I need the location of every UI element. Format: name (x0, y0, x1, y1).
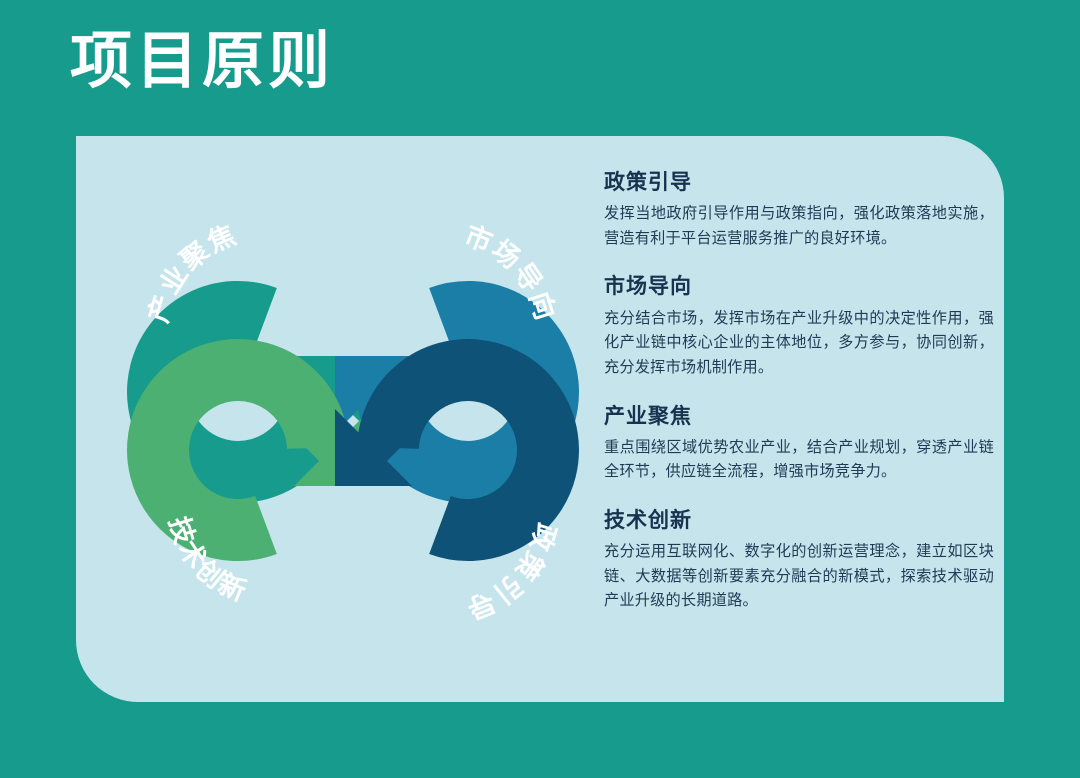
principle-title: 技术创新 (604, 508, 994, 533)
principle-body: 发挥当地政府引导作用与政策指向，强化政策落地实施，营造有利于平台运营服务推广的良… (604, 202, 994, 251)
principles-list: 政策引导 发挥当地政府引导作用与政策指向，强化政策落地实施，营造有利于平台运营服… (604, 170, 994, 614)
principle-title: 产业聚焦 (604, 404, 994, 429)
principle-item-policy-guidance: 政策引导 发挥当地政府引导作用与政策指向，强化政策落地实施，营造有利于平台运营服… (604, 170, 994, 251)
principle-item-industry-focus: 产业聚焦 重点围绕区域优势农业产业，结合产业规划，穿透产业链全环节，供应链全流程… (604, 404, 994, 485)
principle-body: 充分运用互联网化、数字化的创新运营理念，建立如区块链、大数据等创新要素充分融合的… (604, 540, 994, 614)
principle-body: 重点围绕区域优势农业产业，结合产业规划，穿透产业链全环节，供应链全流程，增强市场… (604, 436, 994, 485)
principle-title: 市场导向 (604, 274, 994, 299)
principle-body: 充分结合市场，发挥市场在产业升级中的决定性作用，强化产业链中核心企业的主体地位，… (604, 307, 994, 381)
principle-title: 政策引导 (604, 170, 994, 195)
page-title: 项目原则 (70, 28, 334, 96)
principle-item-market-oriented: 市场导向 充分结合市场，发挥市场在产业升级中的决定性作用，强化产业链中核心企业的… (604, 274, 994, 380)
principle-item-technology-innovation: 技术创新 充分运用互联网化、数字化的创新运营理念，建立如区块链、大数据等创新要素… (604, 508, 994, 614)
circular-arrow-diagram: 产业聚焦 市场导向 技术创新 政策引导 (118, 186, 588, 656)
